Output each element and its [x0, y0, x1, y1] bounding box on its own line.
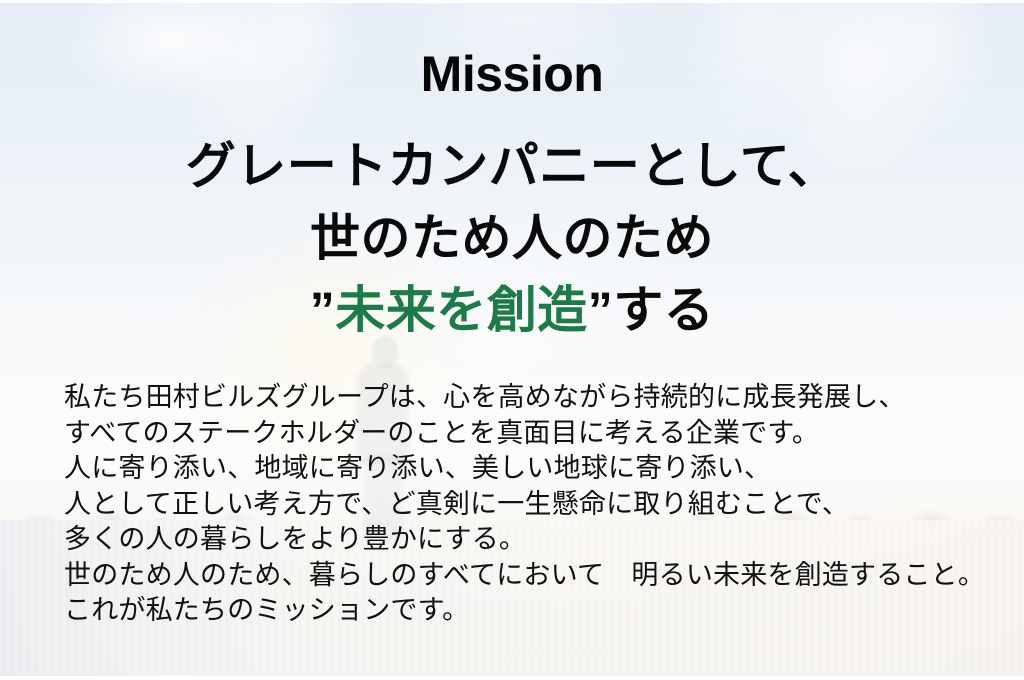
body-line-5: 多くの人の暮らしをより豊かにする。: [64, 522, 985, 558]
headline-line-3-tail: する: [613, 282, 714, 338]
body-line-7: これが私たちのミッションです。: [64, 593, 985, 629]
body-line-1: 私たち田村ビルズグループは、心を高めながら持続的に成長発展し、: [64, 380, 985, 416]
headline-quote-close: ”: [588, 282, 614, 338]
body-line-4: 人として正しい考え方で、ど真剣に一生懸命に取り組むことで、: [64, 487, 985, 523]
mission-slide: Mission グレートカンパニーとして、 世のため人のため ”未来を創造”する…: [0, 0, 1024, 680]
headline-quote-open: ”: [310, 282, 336, 338]
body-line-3: 人に寄り添い、地域に寄り添い、美しい地球に寄り添い、: [64, 451, 985, 487]
body-line-6: 世のため人のため、暮らしのすべてにおいて 明るい未来を創造すること。: [64, 558, 985, 594]
headline: グレートカンパニーとして、 世のため人のため ”未来を創造”する: [0, 130, 1024, 346]
headline-line-3: ”未来を創造”する: [0, 274, 1024, 346]
body-line-2: すべてのステークホルダーのことを真面目に考える企業です。: [64, 416, 985, 452]
page-title: Mission: [0, 49, 1024, 99]
headline-line-1: グレートカンパニーとして、: [0, 130, 1024, 202]
headline-highlight-mirai-wo-souzou: 未来を創造: [335, 282, 588, 338]
mission-statement-body: 私たち田村ビルズグループは、心を高めながら持続的に成長発展し、 すべてのステーク…: [64, 380, 985, 629]
headline-line-2: 世のため人のため: [0, 202, 1024, 274]
slide-content: Mission グレートカンパニーとして、 世のため人のため ”未来を創造”する…: [0, 0, 1024, 680]
